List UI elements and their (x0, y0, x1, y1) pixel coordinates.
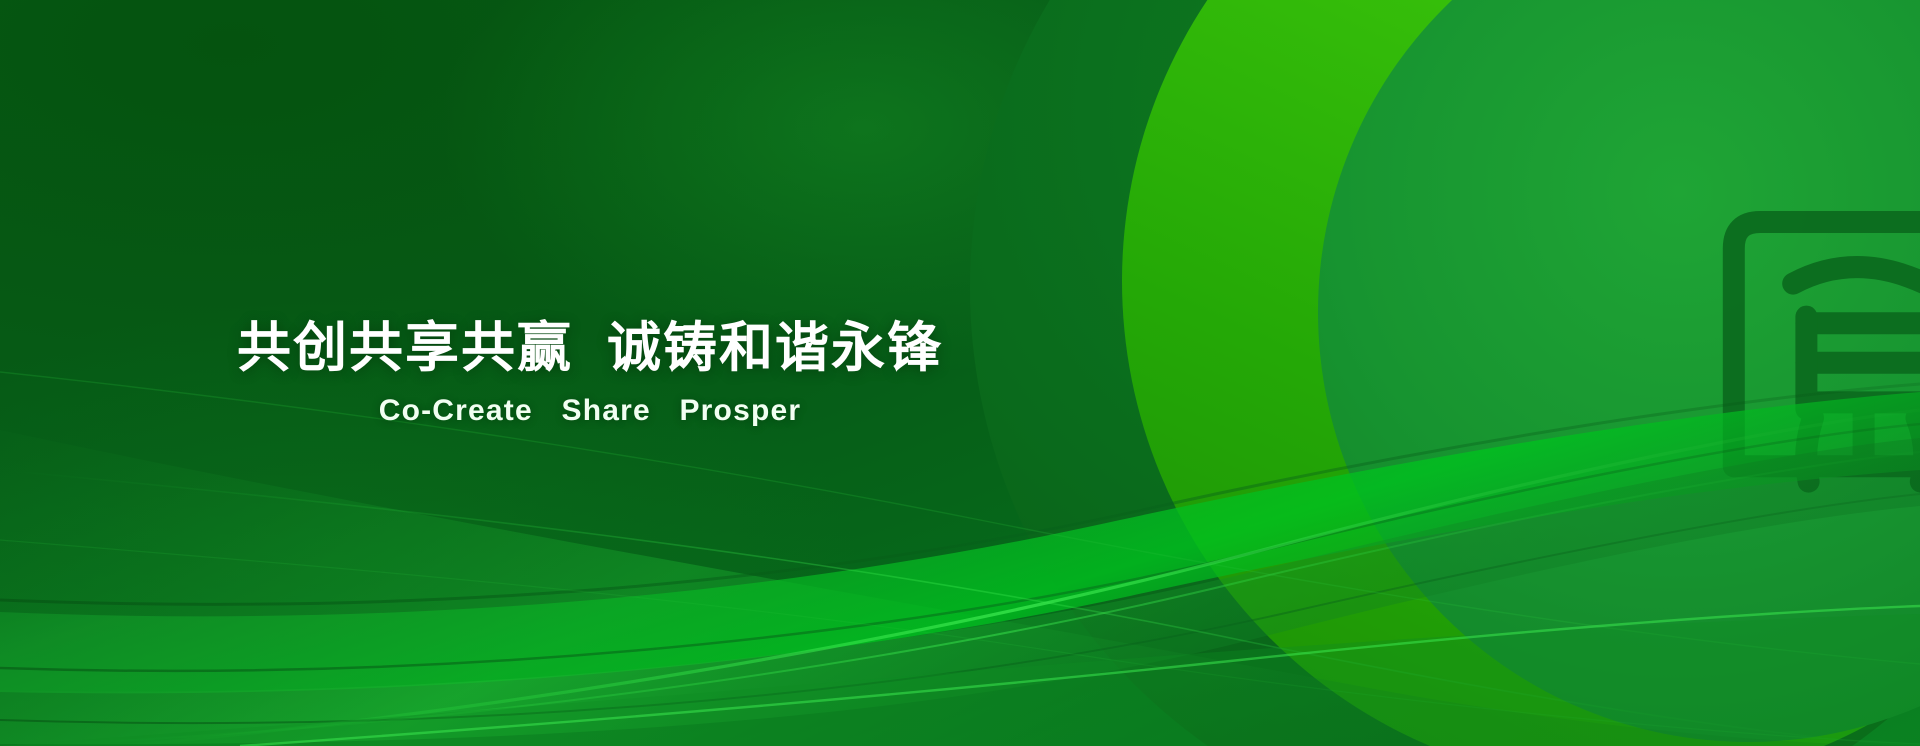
banner-title-chinese: 共创共享共赢 诚铸和谐永锋 (237, 318, 943, 378)
banner-subtitle-english: Co-Create Share Prosper (379, 394, 802, 428)
hero-banner: 共创共享共赢 诚铸和谐永锋 Co-Create Share Prosper (0, 0, 1920, 746)
company-emblem-watermark-icon (1670, 178, 1920, 508)
banner-text-lockup: 共创共享共赢 诚铸和谐永锋 Co-Create Share Prosper (0, 0, 1180, 746)
